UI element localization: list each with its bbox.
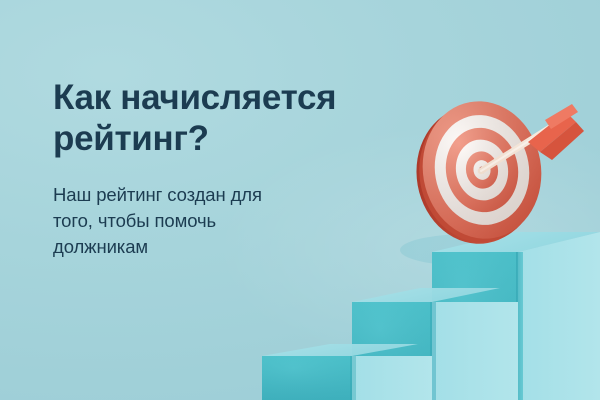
page-title: Как начисляется рейтинг? [53,78,413,160]
text-block: Как начисляется рейтинг? Наш рейтинг соз… [53,78,413,261]
subtitle: Наш рейтинг создан для того, чтобы помоч… [53,182,383,261]
promo-banner: Как начисляется рейтинг? Наш рейтинг соз… [0,0,600,400]
